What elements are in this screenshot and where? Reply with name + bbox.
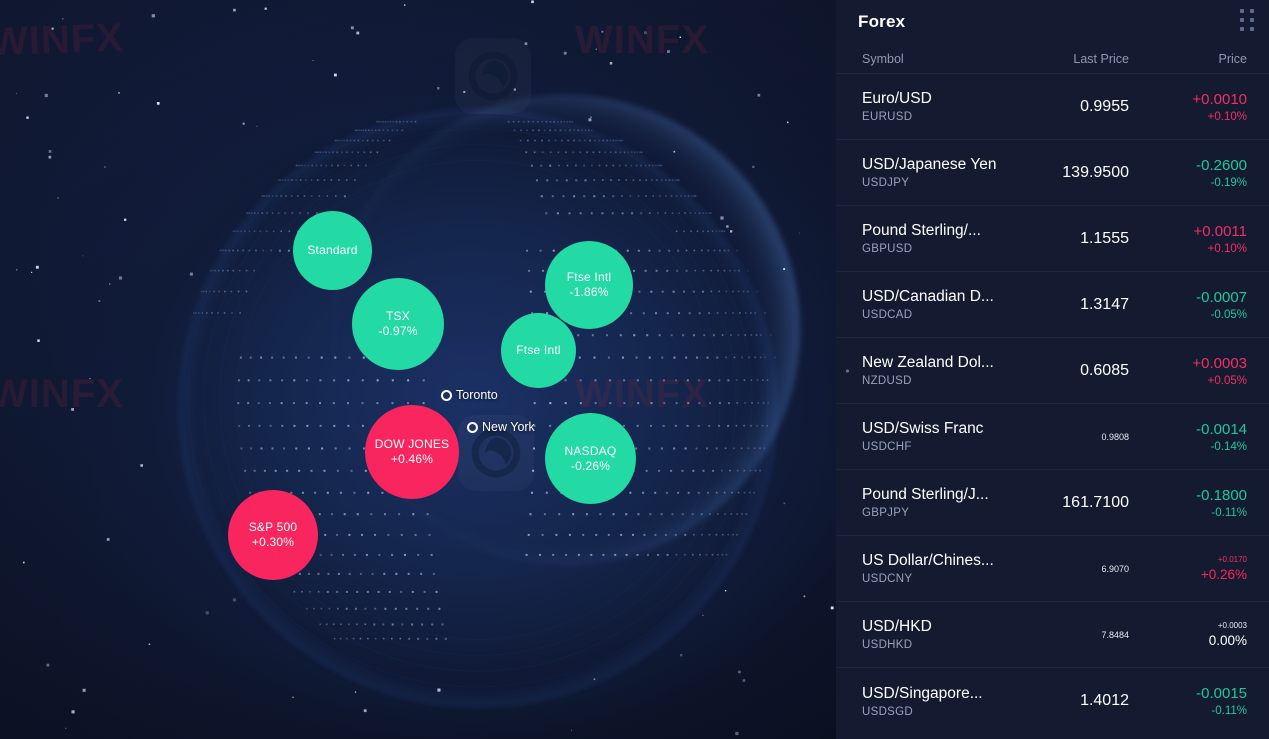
- price-change-cell: +0.00030.00%: [1137, 621, 1247, 648]
- symbol-name: USD/HKD: [862, 618, 1017, 636]
- price-change-absolute: -0.0015: [1137, 685, 1247, 702]
- price-change-percent: -0.11%: [1137, 705, 1247, 717]
- price-change-percent: +0.05%: [1137, 375, 1247, 387]
- index-bubble[interactable]: NASDAQ-0.26%: [545, 413, 636, 504]
- last-price-cell: 6.9070: [1017, 564, 1137, 574]
- index-bubble-percent: +0.46%: [391, 452, 433, 467]
- last-price-cell: 0.6085: [1017, 362, 1137, 380]
- index-bubble-label: TSX: [386, 309, 410, 324]
- symbol-name: New Zealand Dol...: [862, 354, 1017, 372]
- price-change-percent: -0.14%: [1137, 441, 1247, 453]
- table-row[interactable]: Euro/USDEURUSD0.9955+0.0010+0.10%: [836, 74, 1269, 140]
- price-change-cell: -0.0007-0.05%: [1137, 289, 1247, 321]
- symbol-name: Euro/USD: [862, 90, 1017, 108]
- table-row[interactable]: USD/Japanese YenUSDJPY139.9500-0.2600-0.…: [836, 140, 1269, 206]
- price-change-absolute: +0.0003: [1137, 621, 1247, 630]
- symbol-code: USDHKD: [862, 639, 1017, 651]
- watermark-text: WINFX: [575, 18, 709, 63]
- table-row[interactable]: USD/Singapore...USDSGD1.4012-0.0015-0.11…: [836, 668, 1269, 734]
- symbol-code: USDCAD: [862, 309, 1017, 321]
- page-title: Forex: [858, 12, 905, 32]
- forex-column-headers: Symbol Last Price Price: [836, 44, 1269, 74]
- index-bubble[interactable]: Ftse Intl-1.86%: [545, 241, 633, 329]
- price-change-percent: 0.00%: [1137, 633, 1247, 648]
- index-bubble-label: NASDAQ: [565, 444, 617, 459]
- price-change-percent: +0.10%: [1137, 243, 1247, 255]
- price-change-cell: -0.0014-0.14%: [1137, 421, 1247, 453]
- price-change-cell: +0.0010+0.10%: [1137, 91, 1247, 123]
- index-bubble-percent: -0.26%: [571, 459, 610, 474]
- watermark-text: WINFX: [0, 372, 124, 417]
- location-pin-icon: [441, 390, 452, 401]
- price-change-absolute: +0.0170: [1137, 555, 1247, 564]
- city-marker-label: Toronto: [456, 388, 498, 402]
- symbol-name: USD/Singapore...: [862, 685, 1017, 703]
- symbol-cell: USD/Canadian D...USDCAD: [862, 288, 1017, 321]
- forex-panel-header: Forex: [836, 0, 1269, 44]
- symbol-code: USDSGD: [862, 706, 1017, 718]
- last-price-cell: 0.9808: [1017, 432, 1137, 442]
- symbol-cell: USD/Japanese YenUSDJPY: [862, 156, 1017, 189]
- forex-panel: Forex Symbol Last Price Price Euro/USDEU…: [836, 0, 1269, 739]
- table-row[interactable]: USD/HKDUSDHKD7.8484+0.00030.00%: [836, 602, 1269, 668]
- last-price-cell: 0.9955: [1017, 98, 1137, 116]
- price-change-absolute: -0.1800: [1137, 487, 1247, 504]
- column-header-symbol[interactable]: Symbol: [862, 52, 1017, 66]
- price-change-percent: -0.19%: [1137, 177, 1247, 189]
- last-price-cell: 7.8484: [1017, 630, 1137, 640]
- index-bubble-label: Ftse Intl: [567, 270, 611, 285]
- table-row[interactable]: US Dollar/Chines...USDCNY6.9070+0.0170+0…: [836, 536, 1269, 602]
- symbol-code: USDCNY: [862, 573, 1017, 585]
- symbol-name: USD/Canadian D...: [862, 288, 1017, 306]
- symbol-name: Pound Sterling/J...: [862, 486, 1017, 504]
- price-change-percent: +0.26%: [1137, 567, 1247, 582]
- symbol-cell: Euro/USDEURUSD: [862, 90, 1017, 123]
- symbol-name: Pound Sterling/...: [862, 222, 1017, 240]
- index-bubble[interactable]: DOW JONES+0.46%: [365, 405, 459, 499]
- price-change-absolute: +0.0011: [1137, 223, 1247, 240]
- symbol-code: GBPUSD: [862, 243, 1017, 255]
- symbol-cell: USD/Swiss FrancUSDCHF: [862, 420, 1017, 453]
- price-change-absolute: +0.0010: [1137, 91, 1247, 108]
- last-price-cell: 1.3147: [1017, 296, 1137, 314]
- symbol-name: US Dollar/Chines...: [862, 552, 1017, 570]
- symbol-cell: USD/HKDUSDHKD: [862, 618, 1017, 651]
- index-bubble-label: DOW JONES: [375, 437, 449, 452]
- symbol-code: NZDUSD: [862, 375, 1017, 387]
- city-marker[interactable]: Toronto: [441, 388, 498, 402]
- table-row[interactable]: New Zealand Dol...NZDUSD0.6085+0.0003+0.…: [836, 338, 1269, 404]
- symbol-cell: New Zealand Dol...NZDUSD: [862, 354, 1017, 387]
- table-row[interactable]: Pound Sterling/J...GBPJPY161.7100-0.1800…: [836, 470, 1269, 536]
- index-bubble-label: Ftse Intl: [516, 343, 560, 358]
- table-row[interactable]: USD/Canadian D...USDCAD1.3147-0.0007-0.0…: [836, 272, 1269, 338]
- price-change-absolute: +0.0003: [1137, 355, 1247, 372]
- price-change-cell: +0.0170+0.26%: [1137, 555, 1247, 582]
- symbol-cell: Pound Sterling/...GBPUSD: [862, 222, 1017, 255]
- price-change-cell: -0.2600-0.19%: [1137, 157, 1247, 189]
- index-bubble[interactable]: Standard: [293, 211, 372, 290]
- index-bubble-percent: -0.97%: [378, 324, 417, 339]
- index-bubble-label: Standard: [307, 243, 357, 258]
- last-price-cell: 1.1555: [1017, 230, 1137, 248]
- price-change-cell: -0.0015-0.11%: [1137, 685, 1247, 717]
- price-change-cell: +0.0003+0.05%: [1137, 355, 1247, 387]
- column-header-price[interactable]: Price: [1137, 52, 1247, 66]
- globe-visualization: WINFXWINFXWINFXWINFX StandardTSX-0.97%Ft…: [0, 0, 836, 739]
- watermark-text: WINFX: [575, 372, 709, 417]
- symbol-code: EURUSD: [862, 111, 1017, 123]
- symbol-cell: US Dollar/Chines...USDCNY: [862, 552, 1017, 585]
- price-change-cell: -0.1800-0.11%: [1137, 487, 1247, 519]
- index-bubble[interactable]: S&P 500+0.30%: [228, 490, 318, 580]
- index-bubble-percent: +0.30%: [252, 535, 294, 550]
- price-change-absolute: -0.0007: [1137, 289, 1247, 306]
- price-change-absolute: -0.2600: [1137, 157, 1247, 174]
- city-marker[interactable]: New York: [467, 420, 535, 434]
- city-marker-label: New York: [482, 420, 535, 434]
- table-row[interactable]: Pound Sterling/...GBPUSD1.1555+0.0011+0.…: [836, 206, 1269, 272]
- location-pin-icon: [467, 422, 478, 433]
- price-change-percent: -0.11%: [1137, 507, 1247, 519]
- symbol-code: USDCHF: [862, 441, 1017, 453]
- index-bubble[interactable]: TSX-0.97%: [352, 278, 444, 370]
- index-bubble-label: S&P 500: [249, 520, 298, 535]
- price-change-percent: +0.10%: [1137, 111, 1247, 123]
- forex-row-list: Euro/USDEURUSD0.9955+0.0010+0.10%USD/Jap…: [836, 74, 1269, 734]
- price-change-percent: -0.05%: [1137, 309, 1247, 321]
- symbol-cell: USD/Singapore...USDSGD: [862, 685, 1017, 718]
- market-overview-widget: WINFXWINFXWINFXWINFX StandardTSX-0.97%Ft…: [0, 0, 1269, 739]
- last-price-cell: 139.9500: [1017, 164, 1137, 182]
- watermark-text: WINFX: [0, 16, 125, 66]
- last-price-cell: 1.4012: [1017, 692, 1137, 710]
- price-change-cell: +0.0011+0.10%: [1137, 223, 1247, 255]
- column-header-last-price[interactable]: Last Price: [1017, 52, 1137, 66]
- grid-dots-icon[interactable]: [1237, 9, 1257, 31]
- symbol-name: USD/Swiss Franc: [862, 420, 1017, 438]
- watermark-logo: [455, 38, 531, 114]
- symbol-cell: Pound Sterling/J...GBPJPY: [862, 486, 1017, 519]
- row-bullet-icon: [846, 369, 849, 372]
- index-bubble-percent: -1.86%: [569, 285, 608, 300]
- index-bubble[interactable]: Ftse Intl: [501, 313, 576, 388]
- symbol-name: USD/Japanese Yen: [862, 156, 1017, 174]
- table-row[interactable]: USD/Swiss FrancUSDCHF0.9808-0.0014-0.14%: [836, 404, 1269, 470]
- symbol-code: USDJPY: [862, 177, 1017, 189]
- price-change-absolute: -0.0014: [1137, 421, 1247, 438]
- last-price-cell: 161.7100: [1017, 494, 1137, 512]
- symbol-code: GBPJPY: [862, 507, 1017, 519]
- watermark-layer: WINFXWINFXWINFXWINFX: [0, 0, 836, 739]
